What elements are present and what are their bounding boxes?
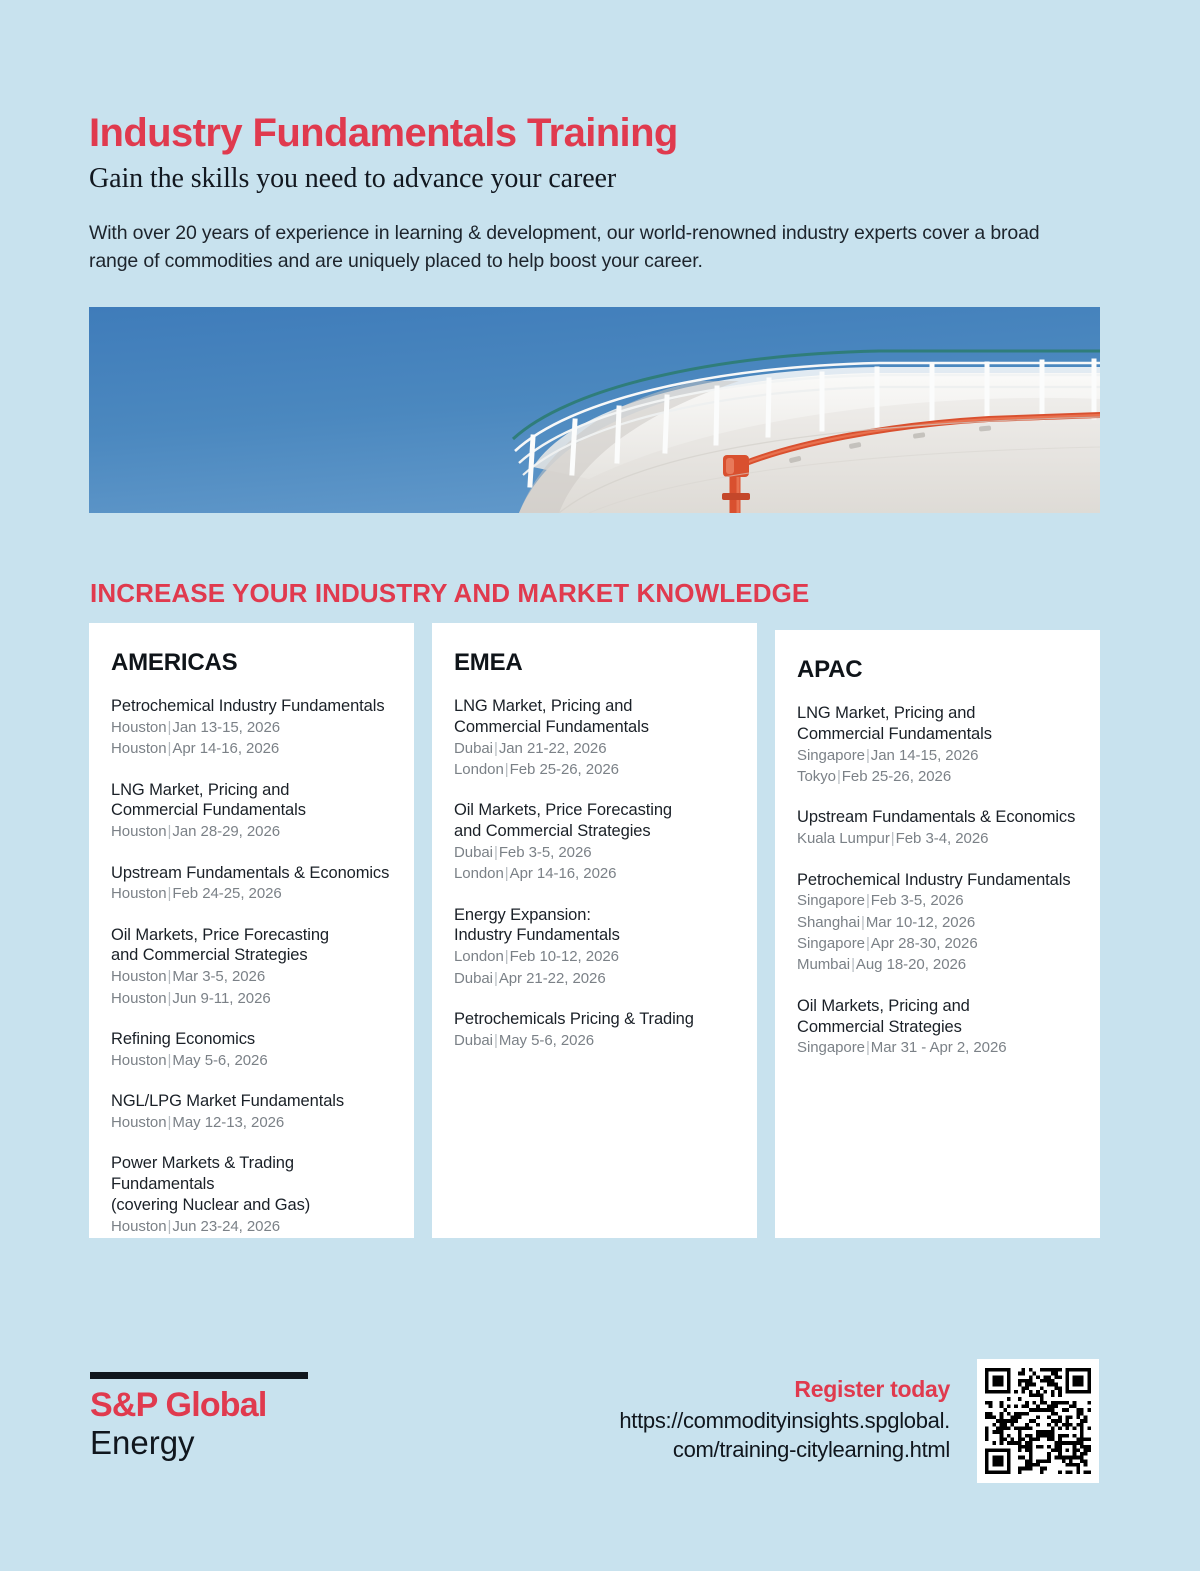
course-item: Petrochemical Industry FundamentalsSinga… [797, 870, 1078, 976]
region-title: AMERICAS [111, 649, 392, 677]
course-item: Oil Markets, Pricing andCommercial Strat… [797, 996, 1078, 1059]
course-item: LNG Market, Pricing andCommercial Fundam… [454, 696, 735, 780]
course-item: Energy Expansion:Industry FundamentalsLo… [454, 905, 735, 989]
regions-container: AMERICAS Petrochemical Industry Fundamen… [89, 623, 1100, 1243]
session-city: Houston [111, 968, 167, 985]
section-heading: INCREASE YOUR INDUSTRY AND MARKET KNOWLE… [90, 578, 809, 609]
session-city: Houston [111, 1052, 167, 1069]
session-dates: Mar 10-12, 2026 [866, 914, 975, 931]
session-dates: Apr 28-30, 2026 [871, 935, 978, 952]
course-item: Oil Markets, Price Forecastingand Commer… [111, 925, 392, 1009]
course-title: Petrochemical Industry Fundamentals [111, 696, 392, 717]
course-session: Houston|Feb 24-25, 2026 [111, 884, 392, 904]
course-title: NGL/LPG Market Fundamentals [111, 1091, 392, 1112]
session-city: Singapore [797, 892, 865, 909]
course-session: Houston|Jun 23-24, 2026 [111, 1217, 392, 1237]
course-title-line: Petrochemical Industry Fundamentals [797, 870, 1078, 891]
tagline: Gain the skills you need to advance your… [89, 164, 1089, 195]
course-session: Shanghai|Mar 10-12, 2026 [797, 913, 1078, 933]
session-dates: Apr 21-22, 2026 [499, 970, 606, 987]
session-dates: Mar 3-5, 2026 [172, 968, 265, 985]
session-dates: Feb 24-25, 2026 [172, 885, 281, 902]
course-session: Houston|Apr 14-16, 2026 [111, 739, 392, 759]
register-url[interactable]: https://commodityinsights.spglobal. com/… [470, 1406, 950, 1464]
page-title: Industry Fundamentals Training [89, 112, 1089, 155]
session-dates: Feb 3-5, 2026 [871, 892, 964, 909]
session-city: Mumbai [797, 956, 850, 973]
course-session: London|Apr 14-16, 2026 [454, 864, 735, 884]
session-dates: Jan 28-29, 2026 [172, 823, 280, 840]
session-dates: Aug 18-20, 2026 [856, 956, 966, 973]
course-item: Petrochemical Industry FundamentalsHoust… [111, 696, 392, 760]
course-title-line: Oil Markets, Price Forecasting [454, 800, 735, 821]
course-session: Dubai|Apr 21-22, 2026 [454, 969, 735, 989]
session-city: Houston [111, 885, 167, 902]
course-list-emea: LNG Market, Pricing andCommercial Fundam… [454, 696, 735, 1051]
session-dates: Mar 31 - Apr 2, 2026 [871, 1039, 1007, 1056]
course-item: Petrochemicals Pricing & TradingDubai|Ma… [454, 1009, 735, 1051]
course-session: Houston|May 5-6, 2026 [111, 1051, 392, 1071]
course-session: Mumbai|Aug 18-20, 2026 [797, 955, 1078, 975]
course-title: Upstream Fundamentals & Economics [111, 863, 392, 884]
session-city: Houston [111, 740, 167, 757]
session-city: London [454, 761, 504, 778]
course-list-americas: Petrochemical Industry FundamentalsHoust… [111, 696, 392, 1237]
course-session: Singapore|Feb 3-5, 2026 [797, 891, 1078, 911]
course-item: Upstream Fundamentals & EconomicsHouston… [111, 863, 392, 905]
course-title-line: and Commercial Strategies [454, 821, 735, 842]
course-title-line: (covering Nuclear and Gas) [111, 1195, 392, 1216]
course-title: Upstream Fundamentals & Economics [797, 807, 1078, 828]
session-city: Tokyo [797, 768, 836, 785]
session-dates: Jan 14-15, 2026 [871, 747, 979, 764]
session-city: Dubai [454, 970, 493, 987]
course-title-line: Commercial Fundamentals [111, 800, 392, 821]
course-item: Oil Markets, Price Forecastingand Commer… [454, 800, 735, 884]
session-city: Houston [111, 719, 167, 736]
sp-global-energy-logo: S&P Global Energy [90, 1372, 320, 1463]
region-card-emea: EMEA LNG Market, Pricing andCommercial F… [432, 623, 757, 1238]
session-city: Houston [111, 1114, 167, 1131]
course-title-line: Industry Fundamentals [454, 925, 735, 946]
course-session: Singapore|Mar 31 - Apr 2, 2026 [797, 1038, 1078, 1058]
training-brochure-page: Industry Fundamentals Training Gain the … [0, 0, 1200, 1571]
course-title-line: LNG Market, Pricing and [797, 703, 1078, 724]
course-item: NGL/LPG Market FundamentalsHouston|May 1… [111, 1091, 392, 1133]
course-title-line: Commercial Fundamentals [454, 717, 735, 738]
course-item: LNG Market, Pricing andCommercial Fundam… [797, 703, 1078, 787]
qr-code[interactable] [977, 1359, 1099, 1483]
session-dates: May 12-13, 2026 [172, 1114, 284, 1131]
register-title: Register today [470, 1376, 950, 1403]
course-title: Oil Markets, Price Forecastingand Commer… [111, 925, 392, 967]
logo-primary-text: S&P Global [90, 1385, 320, 1426]
hero-image-oil-storage-tank [89, 307, 1100, 513]
session-dates: Apr 14-16, 2026 [510, 865, 617, 882]
course-session: Houston|May 12-13, 2026 [111, 1113, 392, 1133]
session-city: Dubai [454, 1032, 493, 1049]
course-session: Kuala Lumpur|Feb 3-4, 2026 [797, 829, 1078, 849]
header: Industry Fundamentals Training Gain the … [89, 112, 1089, 276]
course-session: Houston|Mar 3-5, 2026 [111, 967, 392, 987]
region-card-americas: AMERICAS Petrochemical Industry Fundamen… [89, 623, 414, 1238]
course-session: London|Feb 25-26, 2026 [454, 760, 735, 780]
course-title-line: Oil Markets, Price Forecasting [111, 925, 392, 946]
session-dates: Feb 10-12, 2026 [510, 948, 619, 965]
course-item: Power Markets & Trading Fundamentals(cov… [111, 1153, 392, 1237]
course-session: London|Feb 10-12, 2026 [454, 947, 735, 967]
course-title-line: Upstream Fundamentals & Economics [797, 807, 1078, 828]
session-city: Singapore [797, 747, 865, 764]
register-block: Register today https://commodityinsights… [470, 1376, 950, 1464]
session-city: Houston [111, 1218, 167, 1235]
session-dates: Jan 21-22, 2026 [499, 740, 607, 757]
course-item: Refining EconomicsHouston|May 5-6, 2026 [111, 1029, 392, 1071]
session-city: London [454, 865, 504, 882]
session-dates: Feb 25-26, 2026 [842, 768, 951, 785]
session-dates: May 5-6, 2026 [172, 1052, 267, 1069]
register-url-line-2: com/training-citylearning.html [470, 1435, 950, 1464]
session-dates: Apr 14-16, 2026 [172, 740, 279, 757]
course-title-line: Refining Economics [111, 1029, 392, 1050]
course-session: Houston|Jan 28-29, 2026 [111, 822, 392, 842]
logo-bar [90, 1372, 308, 1379]
register-url-line-1: https://commodityinsights.spglobal. [470, 1406, 950, 1435]
intro-paragraph: With over 20 years of experience in lear… [89, 219, 1074, 276]
course-list-apac: LNG Market, Pricing andCommercial Fundam… [797, 703, 1078, 1059]
session-city: London [454, 948, 504, 965]
logo-secondary-text: Energy [90, 1424, 320, 1463]
course-session: Tokyo|Feb 25-26, 2026 [797, 767, 1078, 787]
course-title-line: Power Markets & Trading Fundamentals [111, 1153, 392, 1195]
course-item: Upstream Fundamentals & EconomicsKuala L… [797, 807, 1078, 849]
course-title: Power Markets & Trading Fundamentals(cov… [111, 1153, 392, 1215]
session-city: Singapore [797, 935, 865, 952]
course-title-line: Commercial Fundamentals [797, 724, 1078, 745]
hero-illustration [89, 307, 1100, 513]
qr-code-graphic [985, 1367, 1091, 1475]
course-title-line: Petrochemicals Pricing & Trading [454, 1009, 735, 1030]
course-title: Refining Economics [111, 1029, 392, 1050]
course-session: Singapore|Apr 28-30, 2026 [797, 934, 1078, 954]
course-session: Dubai|Feb 3-5, 2026 [454, 843, 735, 863]
course-title: LNG Market, Pricing andCommercial Fundam… [111, 780, 392, 822]
course-item: LNG Market, Pricing andCommercial Fundam… [111, 780, 392, 843]
region-card-apac: APAC LNG Market, Pricing andCommercial F… [775, 630, 1100, 1238]
course-title: Energy Expansion:Industry Fundamentals [454, 905, 735, 947]
course-title-line: Commercial Strategies [797, 1017, 1078, 1038]
session-dates: Jan 13-15, 2026 [172, 719, 280, 736]
region-title: EMEA [454, 649, 735, 677]
course-session: Dubai|Jan 21-22, 2026 [454, 739, 735, 759]
course-title: LNG Market, Pricing andCommercial Fundam… [454, 696, 735, 738]
session-city: Shanghai [797, 914, 860, 931]
session-dates: Jun 9-11, 2026 [172, 990, 270, 1007]
course-title-line: LNG Market, Pricing and [454, 696, 735, 717]
course-title-line: NGL/LPG Market Fundamentals [111, 1091, 392, 1112]
region-title: APAC [797, 656, 1078, 684]
course-session: Dubai|May 5-6, 2026 [454, 1031, 735, 1051]
course-title: Oil Markets, Price Forecastingand Commer… [454, 800, 735, 842]
course-title-line: Upstream Fundamentals & Economics [111, 863, 392, 884]
course-session: Houston|Jun 9-11, 2026 [111, 989, 392, 1009]
course-title-line: Petrochemical Industry Fundamentals [111, 696, 392, 717]
session-city: Dubai [454, 740, 493, 757]
course-title-line: Energy Expansion: [454, 905, 735, 926]
session-city: Kuala Lumpur [797, 830, 890, 847]
course-title: Petrochemicals Pricing & Trading [454, 1009, 735, 1030]
session-city: Dubai [454, 844, 493, 861]
course-title: Oil Markets, Pricing andCommercial Strat… [797, 996, 1078, 1038]
course-title-line: and Commercial Strategies [111, 945, 392, 966]
course-session: Singapore|Jan 14-15, 2026 [797, 746, 1078, 766]
session-dates: Feb 3-5, 2026 [499, 844, 592, 861]
course-title-line: Oil Markets, Pricing and [797, 996, 1078, 1017]
session-dates: Feb 3-4, 2026 [896, 830, 989, 847]
session-dates: May 5-6, 2026 [499, 1032, 594, 1049]
session-city: Houston [111, 823, 167, 840]
session-city: Houston [111, 990, 167, 1007]
session-dates: Feb 25-26, 2026 [510, 761, 619, 778]
course-session: Houston|Jan 13-15, 2026 [111, 718, 392, 738]
course-title: Petrochemical Industry Fundamentals [797, 870, 1078, 891]
course-title: LNG Market, Pricing andCommercial Fundam… [797, 703, 1078, 745]
session-city: Singapore [797, 1039, 865, 1056]
course-title-line: LNG Market, Pricing and [111, 780, 392, 801]
session-dates: Jun 23-24, 2026 [172, 1218, 280, 1235]
